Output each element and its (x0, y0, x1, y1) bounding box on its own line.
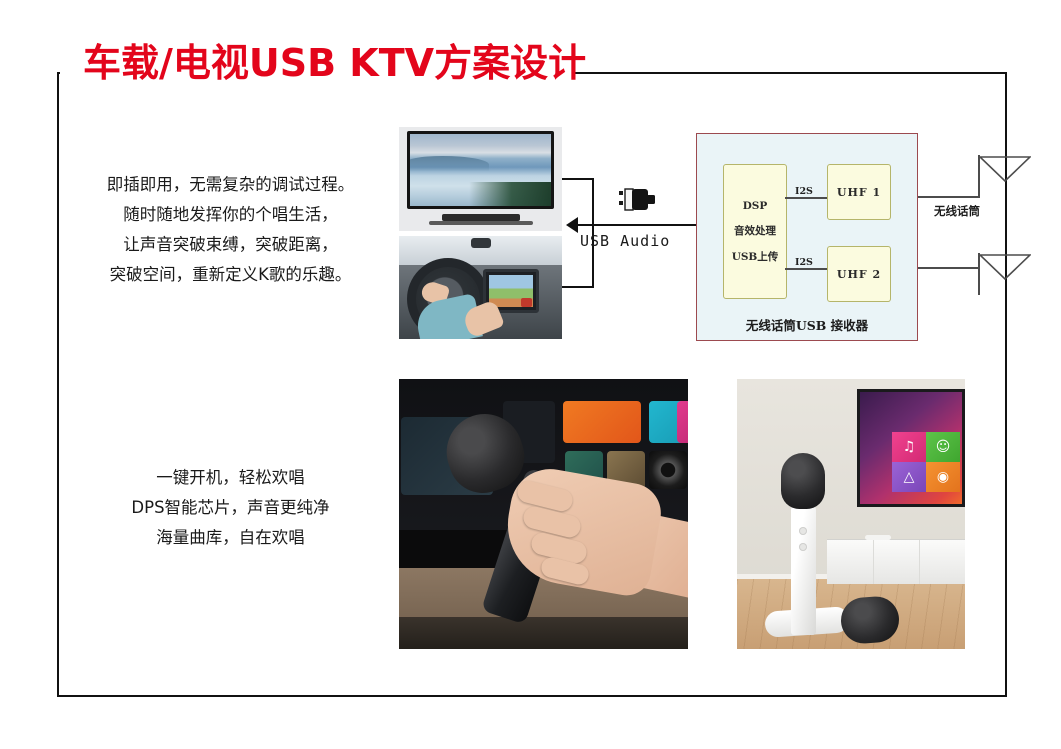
feature-line-1: 一键开机，轻松欢唱 (78, 463, 383, 493)
rearview-mirror (471, 238, 491, 248)
tv-bezel (407, 131, 554, 209)
usb-audio-arrow-head (566, 217, 578, 233)
car-dash-lower (399, 617, 688, 649)
dsp-label-2: 音效处理 (734, 223, 776, 238)
cabinet-seam-1 (873, 540, 874, 584)
tv-foot (429, 221, 533, 225)
tv-screen-image (410, 134, 551, 206)
tv-stand (442, 214, 520, 221)
i2s-wire-1 (785, 197, 827, 199)
wireless-microphone-label: 无线话筒 (934, 203, 980, 219)
tv-tile-view: ◉ (926, 462, 960, 492)
car-interior-photo (399, 236, 562, 339)
usb-audio-label: USB Audio (580, 232, 670, 250)
tv-tile-chat: ☺ (926, 432, 960, 462)
receiver-caption: 无线话筒USB 接收器 (697, 315, 917, 334)
intro-line-1: 即插即用，无需复杂的调试过程。 (78, 170, 383, 200)
feature-line-3: 海量曲库，自在欢唱 (78, 523, 383, 553)
dsp-label-1: DSP (743, 200, 768, 212)
i2s-label-1: I2S (793, 186, 815, 197)
dsp-block: DSP 音效处理 USB上传 (723, 164, 787, 299)
intro-line-4: 突破空间，重新定义K歌的乐趣。 (78, 260, 383, 290)
title-block: 车载/电视USB KTV方案设计 (83, 44, 586, 82)
display-tile-pink (677, 401, 688, 443)
feature-line-2: DPS智能芯片，声音更纯净 (78, 493, 383, 523)
intro-text-block: 即插即用，无需复杂的调试过程。 随时随地发挥你的个唱生活， 让声音突破束缚，突破… (78, 170, 383, 290)
intro-line-2: 随时随地发挥你的个唱生活， (78, 200, 383, 230)
wall-mounted-tv: ♫ ☺ △ ◉ (857, 389, 965, 507)
remote-control (865, 535, 891, 540)
receiver-block-diagram: DSP 音效处理 USB上传 I2S I2S UHF 1 UHF 2 无线话筒U… (696, 133, 918, 341)
uhf1-block: UHF 1 (827, 164, 891, 220)
antenna-2-icon (979, 254, 1031, 278)
display-tile-album-3 (649, 451, 687, 489)
antenna-1-icon (979, 156, 1031, 180)
uhf2-block: UHF 2 (827, 246, 891, 302)
mic-button-1 (799, 527, 807, 535)
tv-photo (399, 127, 562, 231)
usb-audio-arrow-line (572, 224, 702, 226)
uhf1-antenna-wire (918, 196, 980, 198)
usb-audio-connection: USB Audio (566, 186, 702, 278)
usb-plug-icon (618, 188, 658, 212)
tv-cabinet (827, 539, 965, 584)
feature-text-block: 一键开机，轻松欢唱 DPS智能芯片，声音更纯净 海量曲库，自在欢唱 (78, 463, 383, 553)
cabinet-seam-2 (919, 540, 920, 584)
first-microphone-foam-head (781, 453, 825, 509)
intro-line-3: 让声音突破束缚，突破距离， (78, 230, 383, 260)
page-title: 车载/电视USB KTV方案设计 (83, 44, 586, 82)
i2s-label-2: I2S (793, 257, 815, 268)
tv-tile-send: △ (892, 462, 926, 492)
mic-button-2 (799, 543, 807, 551)
microphones-living-room-photo: ♫ ☺ △ ◉ (737, 379, 965, 649)
first-microphone-body (791, 505, 816, 635)
tv-tile-ktv: ♫ (892, 432, 926, 462)
uhf2-antenna-wire (918, 267, 980, 269)
car-screen-button (521, 298, 532, 307)
i2s-wire-2 (785, 268, 827, 270)
microphone-in-car-photo (399, 379, 688, 649)
display-tile-orange (563, 401, 641, 443)
dsp-label-3: USB上传 (732, 249, 779, 264)
